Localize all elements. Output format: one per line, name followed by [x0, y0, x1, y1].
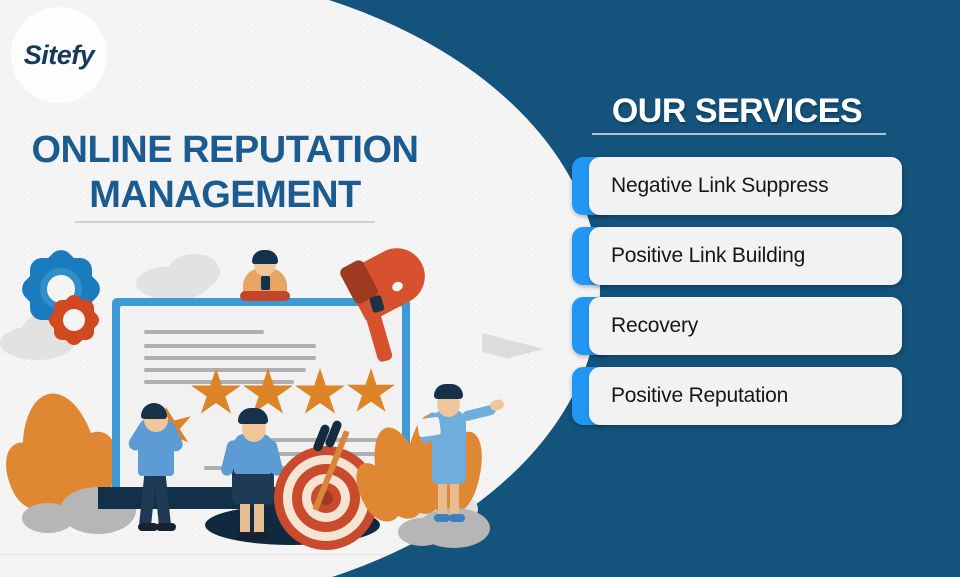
content-line — [144, 344, 316, 348]
content-line — [144, 330, 264, 334]
person-right-clipboard — [417, 417, 441, 438]
cloud-icon — [168, 254, 220, 290]
content-line — [144, 368, 306, 372]
service-item[interactable]: Recovery — [572, 297, 902, 355]
person-top-phone — [261, 276, 270, 290]
services-heading: OUR SERVICES — [572, 92, 902, 131]
service-item[interactable]: Positive Link Building — [572, 227, 902, 285]
rock-shape — [398, 518, 446, 546]
service-item[interactable]: Positive Reputation — [572, 367, 902, 425]
service-card[interactable]: Positive Link Building — [589, 227, 902, 285]
person-center-hair-front — [238, 408, 268, 424]
person-right-hair-front — [434, 384, 463, 399]
service-card[interactable]: Recovery — [589, 297, 902, 355]
headline-underline — [75, 221, 375, 223]
content-line — [144, 356, 316, 360]
rock-shape — [22, 503, 74, 533]
banner-root: Sitefy ONLINE REPUTATION MANAGEMENT OUR … — [0, 0, 960, 577]
person-left-shoe — [138, 523, 158, 531]
page-title: ONLINE REPUTATION MANAGEMENT — [0, 128, 450, 223]
service-card[interactable]: Positive Reputation — [589, 367, 902, 425]
person-left-shoe — [156, 523, 176, 531]
services-list: Negative Link Suppress Positive Link Bui… — [572, 157, 902, 437]
headline-line-1: ONLINE REPUTATION — [0, 128, 450, 173]
person-right-hand — [489, 398, 505, 411]
person-top-legs — [240, 291, 290, 301]
service-label: Negative Link Suppress — [589, 174, 828, 198]
service-card[interactable]: Negative Link Suppress — [589, 157, 902, 215]
person-right-shoe — [434, 514, 450, 522]
service-label: Positive Link Building — [589, 244, 805, 268]
person-top-hair — [252, 250, 278, 264]
headline-line-2: MANAGEMENT — [0, 173, 450, 218]
person-right-shoe — [449, 514, 465, 522]
services-heading-underline — [592, 133, 886, 135]
brand-logo[interactable]: Sitefy — [11, 7, 107, 103]
paper-plane-wing — [482, 352, 530, 368]
gear-center-orange — [63, 309, 85, 331]
service-item[interactable]: Negative Link Suppress — [572, 157, 902, 215]
service-label: Positive Reputation — [589, 384, 788, 408]
person-center-shoe — [252, 532, 270, 540]
service-label: Recovery — [589, 314, 698, 338]
